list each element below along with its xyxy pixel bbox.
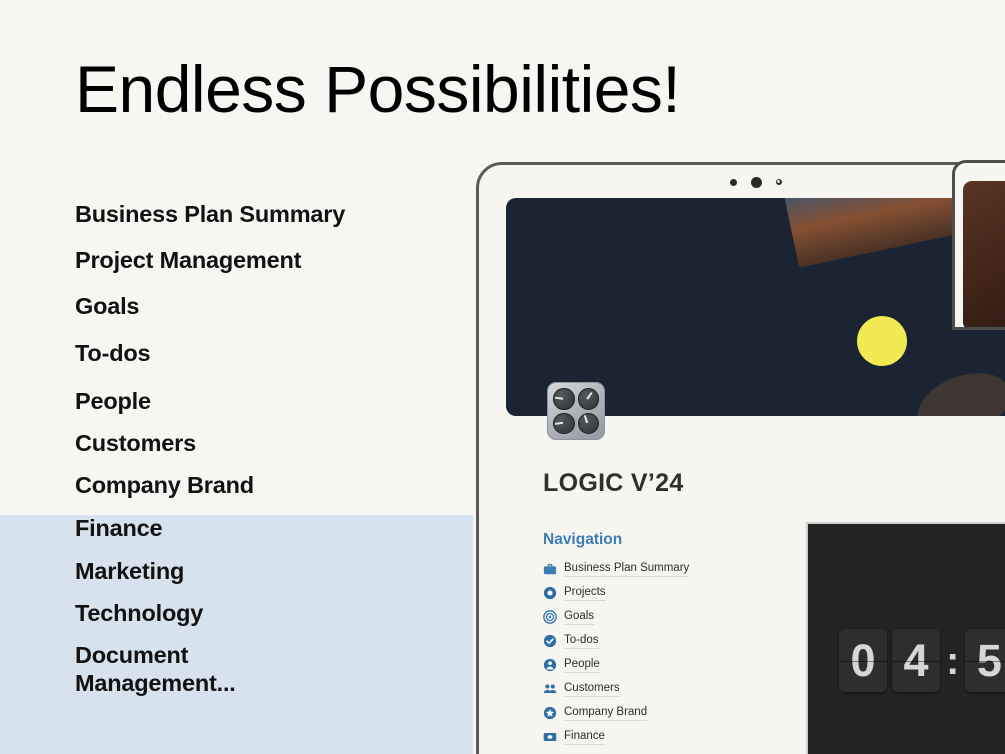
nav-item-company-brand[interactable]: Company Brand	[543, 701, 783, 725]
nav-item-label: To-dos	[564, 633, 599, 649]
knob-icon[interactable]	[578, 413, 600, 435]
flip-digit: 4	[903, 638, 928, 683]
list-item-label: Project Management	[75, 246, 465, 274]
nav-item-label: Projects	[564, 585, 606, 601]
star-circle-icon	[543, 706, 557, 720]
app-title: LOGIC V’24	[543, 469, 684, 498]
nav-item-product-service-list[interactable]: Product/Service List	[543, 749, 783, 754]
list-item[interactable]: Finance	[75, 514, 465, 542]
list-item-label-continued: Management...	[75, 669, 465, 697]
money-card-icon	[543, 730, 557, 744]
list-item-label: Document	[75, 641, 465, 669]
knobs-widget[interactable]	[547, 382, 605, 440]
nav-item-label: Finance	[564, 729, 605, 745]
clock-separator: :	[945, 641, 960, 681]
feature-list: Business Plan Summary Project Management…	[75, 200, 465, 697]
nav-item-business-plan-summary[interactable]: Business Plan Summary	[543, 557, 783, 581]
flip-card-hour-tens: 0	[839, 629, 887, 692]
light-sensor-icon	[776, 179, 782, 185]
flip-clock-panel: 0 4 : 5	[806, 522, 1005, 754]
nav-item-to-dos[interactable]: To-dos	[543, 629, 783, 653]
list-item-label: People	[75, 387, 465, 415]
nav-item-label: Business Plan Summary	[564, 561, 689, 577]
slide-canvas: Endless Possibilities! Business Plan Sum…	[0, 0, 1005, 754]
navigation-heading: Navigation	[543, 531, 622, 549]
list-item-label: Goals	[75, 292, 465, 320]
nav-item-label: Company Brand	[564, 705, 647, 721]
briefcase-icon	[543, 562, 557, 576]
knob-icon[interactable]	[578, 388, 600, 410]
list-item-label: To-dos	[75, 339, 465, 367]
list-item[interactable]: Marketing	[75, 557, 465, 585]
flip-clock: 0 4 : 5	[839, 629, 1005, 692]
list-item[interactable]: Project Management	[75, 246, 465, 274]
flip-digit: 0	[850, 638, 875, 683]
secondary-device	[952, 160, 1005, 330]
list-item-label: Company Brand	[75, 471, 465, 499]
flip-card-minute-tens: 5	[965, 629, 1005, 692]
check-circle-icon	[543, 634, 557, 648]
nav-item-customers[interactable]: Customers	[543, 677, 783, 701]
nav-item-finance[interactable]: Finance	[543, 725, 783, 749]
list-item-label: Customers	[75, 429, 465, 457]
flip-card-hour-ones: 4	[892, 629, 940, 692]
people-group-icon	[543, 682, 557, 696]
page-title: Endless Possibilities!	[75, 52, 680, 128]
list-item[interactable]: To-dos	[75, 339, 465, 367]
sensor-dot-icon	[730, 179, 737, 186]
navigation-list: Business Plan Summary Projects Goals	[543, 557, 783, 754]
list-item[interactable]: Document Management...	[75, 641, 465, 697]
circle-ring-icon	[543, 586, 557, 600]
nav-item-projects[interactable]: Projects	[543, 581, 783, 605]
list-item-label: Marketing	[75, 557, 465, 585]
list-item-label: Business Plan Summary	[75, 200, 465, 228]
list-item[interactable]: Customers	[75, 429, 465, 457]
list-item[interactable]: Company Brand	[75, 471, 465, 499]
nav-item-label: People	[564, 657, 600, 673]
flip-digit: 5	[977, 638, 1002, 683]
hero-sun-circle	[857, 316, 907, 366]
nav-item-goals[interactable]: Goals	[543, 605, 783, 629]
nav-item-label: Customers	[564, 681, 620, 697]
secondary-device-screen	[963, 181, 1005, 330]
list-item[interactable]: Goals	[75, 292, 465, 320]
target-icon	[543, 610, 557, 624]
knob-icon[interactable]	[553, 388, 575, 410]
knob-icon[interactable]	[553, 413, 575, 435]
list-item[interactable]: People	[75, 387, 465, 415]
list-item[interactable]: Technology	[75, 599, 465, 627]
list-item[interactable]: Business Plan Summary	[75, 200, 465, 228]
tablet-bezel-top	[479, 165, 1005, 199]
person-circle-icon	[543, 658, 557, 672]
list-item-label: Finance	[75, 514, 465, 542]
nav-item-people[interactable]: People	[543, 653, 783, 677]
nav-item-label: Goals	[564, 609, 594, 625]
camera-lens-icon	[751, 177, 762, 188]
list-item-label: Technology	[75, 599, 465, 627]
